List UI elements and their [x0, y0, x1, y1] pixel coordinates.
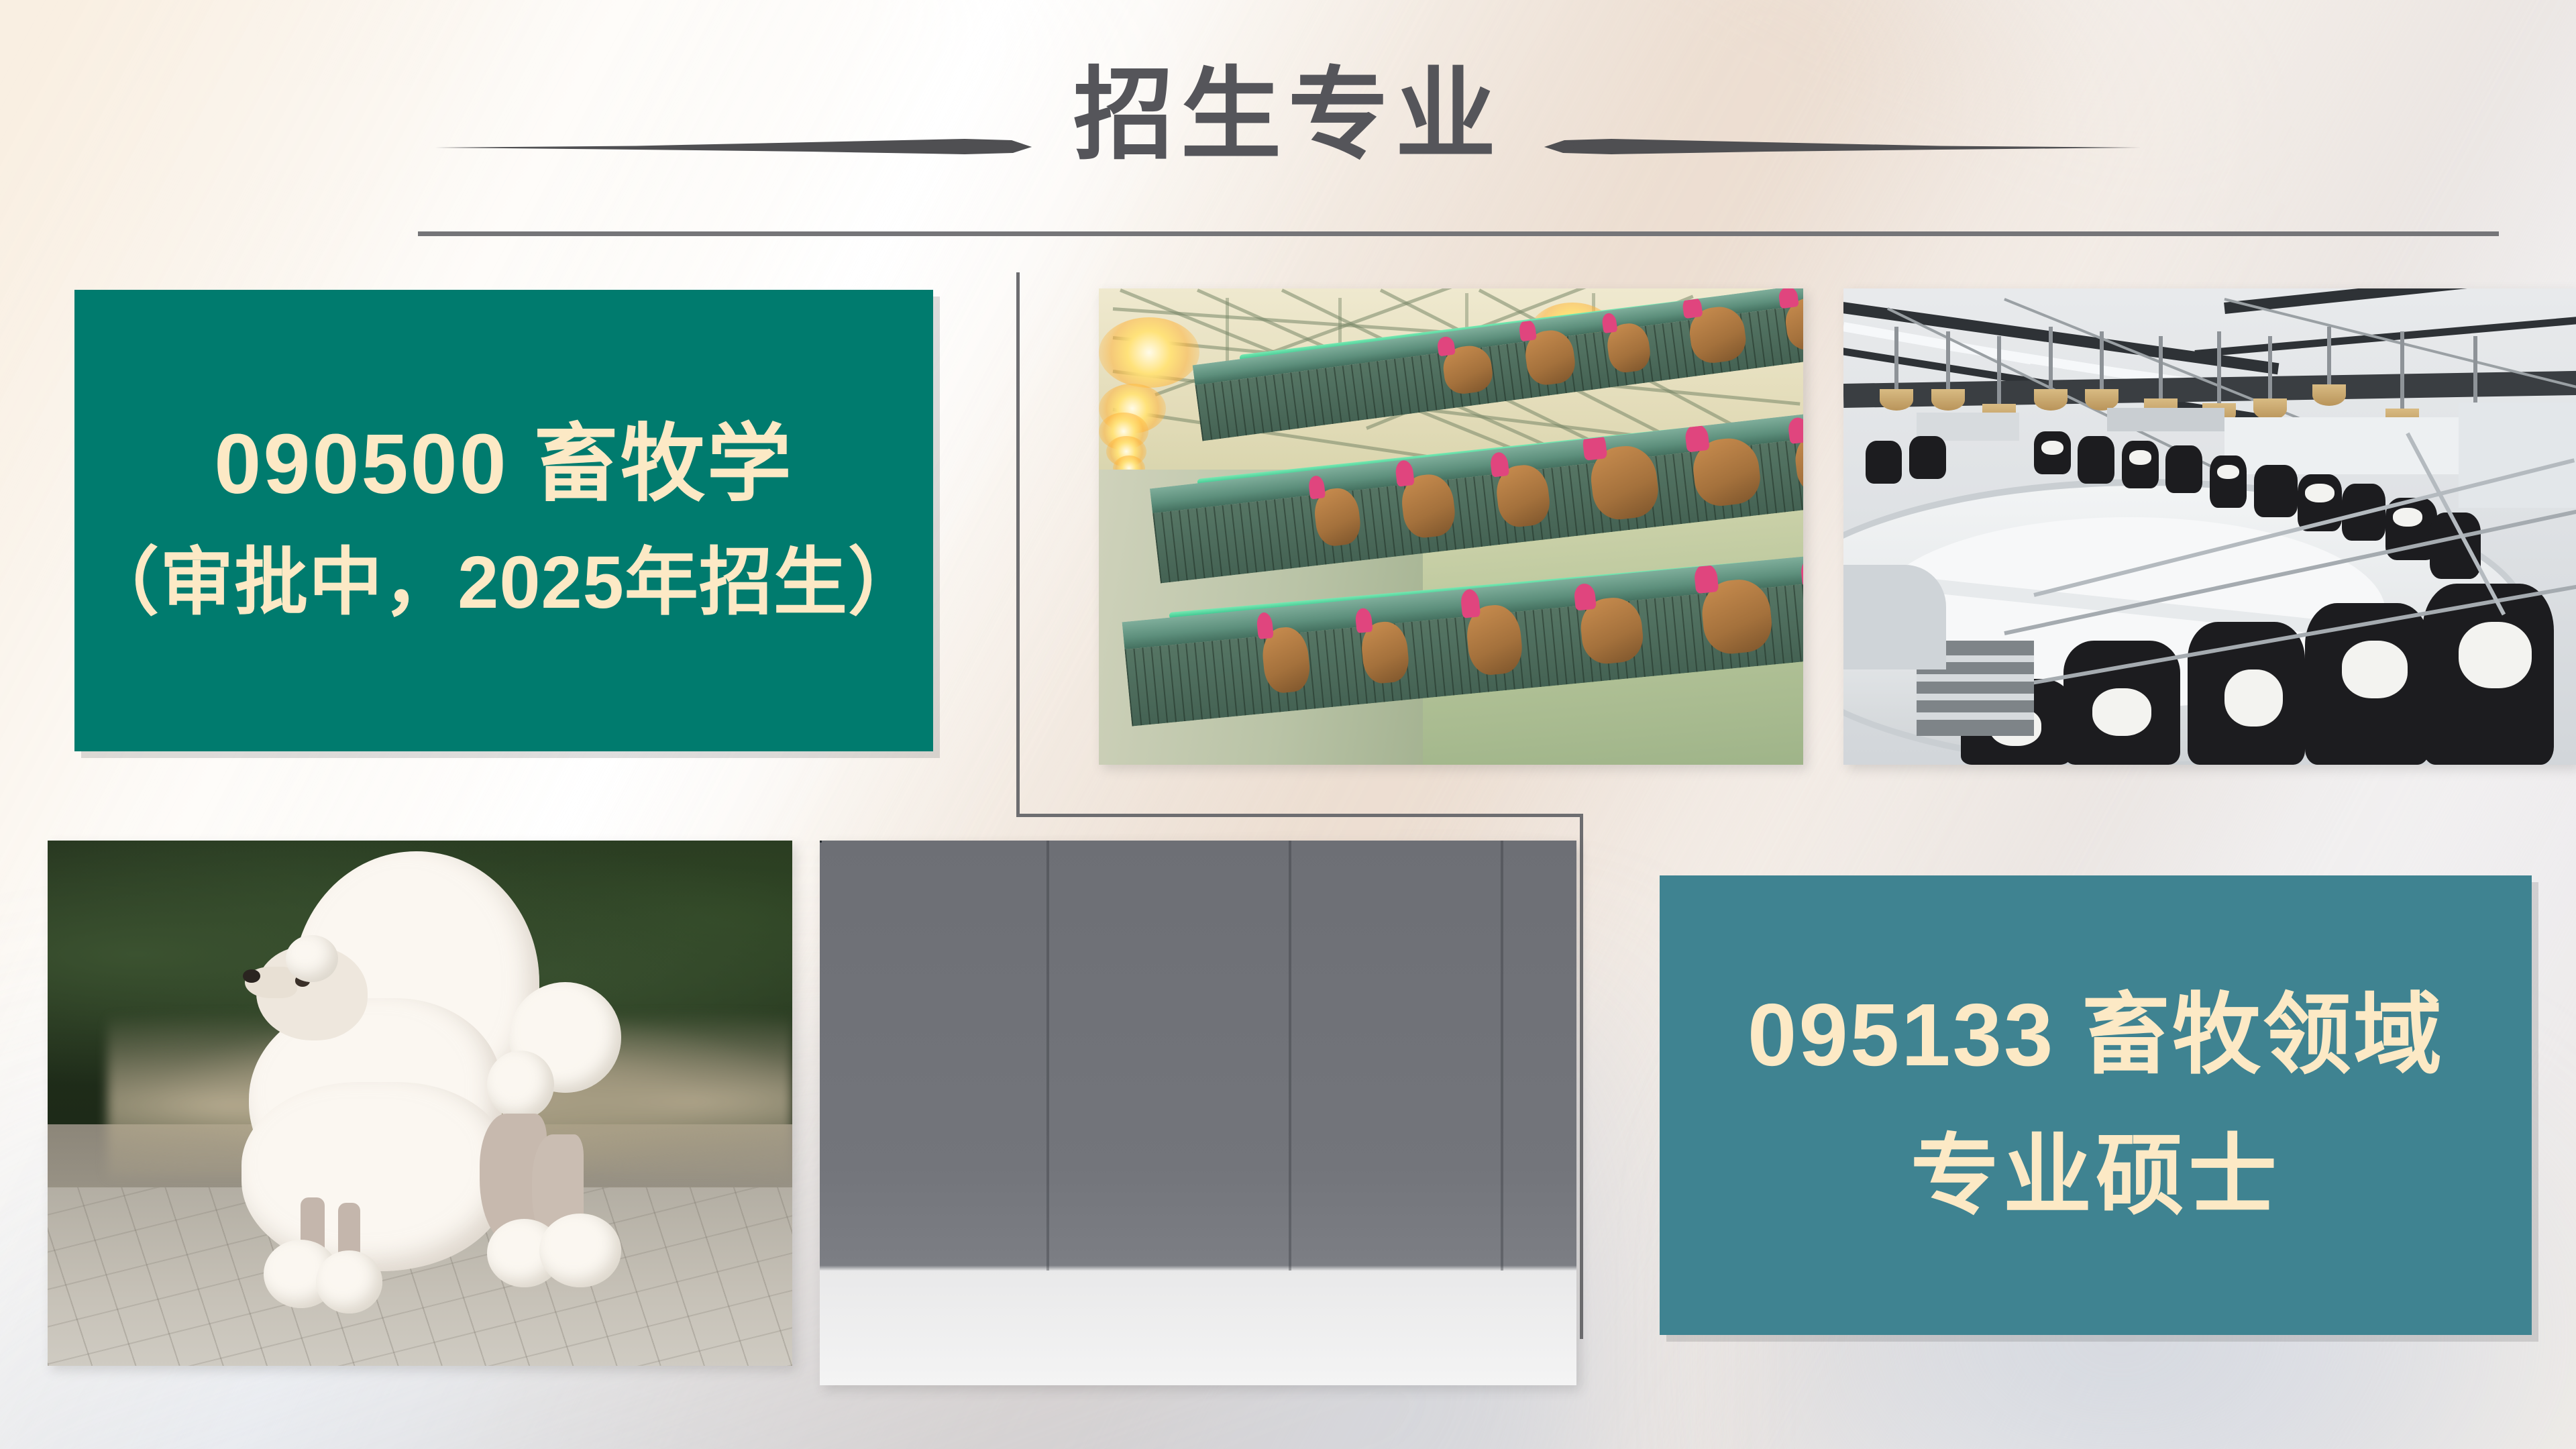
- major-card-090500-subtitle: （审批中，2025年招生）: [85, 542, 922, 623]
- kittens-illustration: [820, 841, 1576, 1385]
- milking-parlour-illustration: [1843, 288, 2576, 765]
- major-card-090500[interactable]: 090500 畜牧学 （审批中，2025年招生）: [74, 290, 933, 751]
- poultry-house-illustration: [1099, 288, 1803, 765]
- photo-scottish-fold-kittens: [820, 841, 1576, 1385]
- connector-line-vertical-lower: [1580, 814, 1583, 1339]
- spear-right-icon: [1544, 136, 2141, 158]
- title-divider: [418, 231, 2499, 236]
- major-card-095133[interactable]: 095133 畜牧领域 专业硕士: [1660, 875, 2532, 1335]
- connector-line-horizontal: [1016, 814, 1583, 817]
- photo-poultry-house: [1099, 288, 1803, 765]
- major-card-090500-title: 090500 畜牧学: [214, 418, 793, 511]
- connector-line-vertical-upper: [1016, 272, 1020, 817]
- major-card-095133-subtitle: 专业硕士: [1911, 1125, 2281, 1227]
- major-card-095133-title: 095133 畜牧领域: [1748, 984, 2444, 1086]
- poodle-illustration: [48, 841, 792, 1366]
- photo-white-poodle: [48, 841, 792, 1366]
- page-title: 招生专业: [0, 64, 2576, 165]
- photo-rotary-milking-parlour: [1843, 288, 2576, 765]
- slide-title-block: 招生专业: [0, 34, 2576, 188]
